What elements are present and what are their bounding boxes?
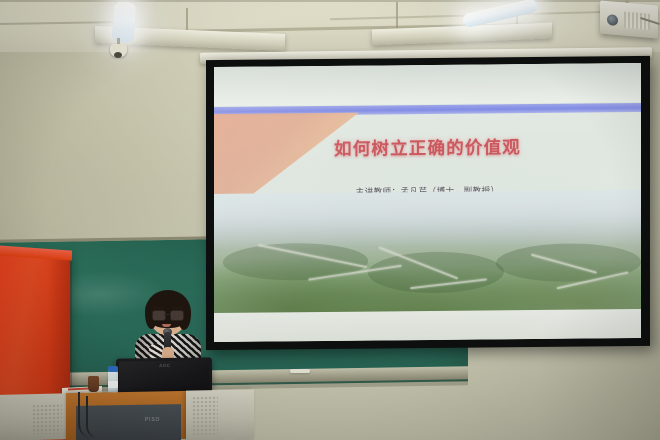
slide-great-wall-photo: [214, 189, 641, 314]
water-bottle-cap: [108, 366, 118, 372]
photo-atmosphere-haze: [214, 189, 641, 249]
presenter-eyebrow: [172, 307, 183, 309]
light-hanger: [186, 8, 188, 32]
mountain-ridge: [368, 251, 505, 293]
ceiling-seam: [0, 0, 660, 2]
slide-top-strip: [214, 63, 641, 106]
podium-brand-label: PISO: [145, 416, 171, 424]
light-hanger: [396, 2, 398, 28]
presentation-slide: 如何树立正确的价值观 主讲教师：孟凡芹（博士，副教授） 联系方式：mfanqin…: [214, 63, 641, 342]
slide-bottom-strip: [214, 309, 641, 342]
cup: [88, 376, 99, 392]
power-cable: [86, 396, 98, 438]
presenter-eyebrow: [153, 307, 164, 309]
surveillance-camera-icon: [110, 44, 127, 57]
left-cabinet-grill: [32, 404, 62, 435]
monitor-logo: AOC: [156, 363, 174, 368]
projection-screen: 如何树立正确的价值观 主讲教师：孟凡芹（博士，副教授） 联系方式：mfanqin…: [206, 56, 650, 350]
speaker-grill: [192, 396, 218, 436]
projector-lens-icon: [607, 14, 618, 26]
slide-title: 如何树立正确的价值观: [214, 133, 641, 162]
fluorescent-tube-left: [112, 1, 137, 42]
glasses-icon: [152, 310, 184, 319]
classroom-photo: 如何树立正确的价值观 主讲教师：孟凡芹（博士，副教授） 联系方式：mfanqin…: [0, 0, 660, 440]
projection-screen-surface: 如何树立正确的价值观 主讲教师：孟凡芹（博士，副教授） 联系方式：mfanqin…: [214, 63, 641, 342]
water-bottle-label: [108, 381, 118, 388]
chalk-eraser: [290, 369, 310, 373]
mountain-ridge: [496, 243, 641, 283]
